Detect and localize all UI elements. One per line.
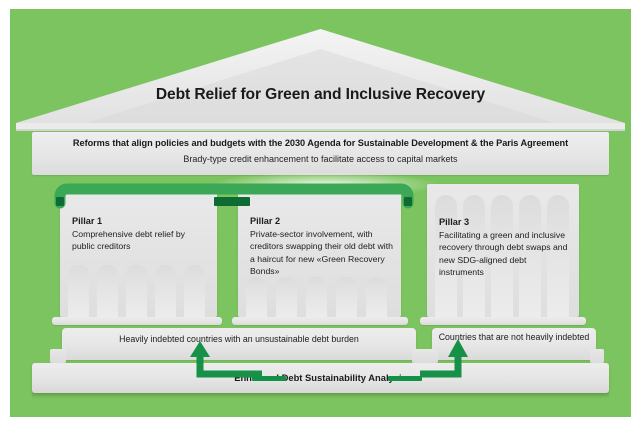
architrave-line-1: Reforms that align policies and budgets … xyxy=(32,138,609,148)
cornice-middle xyxy=(232,317,408,325)
pillar-2-text: Pillar 2 Private-sector involvement, wit… xyxy=(250,215,393,277)
pillar-2-body: Private-sector involvement, with credito… xyxy=(250,229,393,276)
step-notch xyxy=(590,349,604,363)
architrave-band: Reforms that align policies and budgets … xyxy=(32,132,609,175)
column xyxy=(306,277,327,317)
pillar-3-block: Pillar 3 Facilitating a green and inclus… xyxy=(427,184,579,317)
column xyxy=(366,277,387,317)
pillar-1-title: Pillar 1 xyxy=(72,215,209,227)
step-notch xyxy=(50,349,66,363)
pillar-3-title: Pillar 3 xyxy=(439,216,571,228)
column xyxy=(184,265,205,317)
pillar-2-block: Pillar 2 Private-sector involvement, wit… xyxy=(238,191,401,317)
infographic-canvas: Debt Relief for Green and Inclusive Reco… xyxy=(0,0,641,426)
page-title: Debt Relief for Green and Inclusive Reco… xyxy=(10,86,631,104)
column xyxy=(97,265,118,317)
arrow-up-right xyxy=(420,337,492,379)
column xyxy=(276,277,297,317)
cornice-right xyxy=(420,317,586,325)
floor-shadow xyxy=(32,393,609,399)
architrave-line-2: Brady-type credit enhancement to facilit… xyxy=(32,154,609,164)
edsa-dash-right xyxy=(388,376,422,381)
column xyxy=(246,277,267,317)
edsa-label: Enhanced Debt Sustainability Analysis xyxy=(32,372,609,383)
bracket-center-tab xyxy=(214,197,250,206)
pillar-1-colonnade xyxy=(60,191,217,317)
arrow-up-left xyxy=(176,341,262,379)
pillar-1-body: Comprehensive debt relief by public cred… xyxy=(72,229,185,251)
column xyxy=(336,277,357,317)
column xyxy=(155,265,176,317)
pillar-3-text: Pillar 3 Facilitating a green and inclus… xyxy=(439,216,571,278)
pillar-1-text: Pillar 1 Comprehensive debt relief by pu… xyxy=(72,215,209,253)
title-text: Debt Relief for Green and Inclusive Reco… xyxy=(156,86,485,103)
column xyxy=(126,265,147,317)
pillar-3-body: Facilitating a green and inclusive recov… xyxy=(439,230,567,277)
pillar-1-block: Pillar 1 Comprehensive debt relief by pu… xyxy=(60,191,217,317)
plinth-base: Enhanced Debt Sustainability Analysis xyxy=(32,363,609,393)
column xyxy=(68,265,89,317)
pediment-roof xyxy=(10,19,631,131)
pillar-2-title: Pillar 2 xyxy=(250,215,393,227)
cornice-left xyxy=(52,317,222,325)
